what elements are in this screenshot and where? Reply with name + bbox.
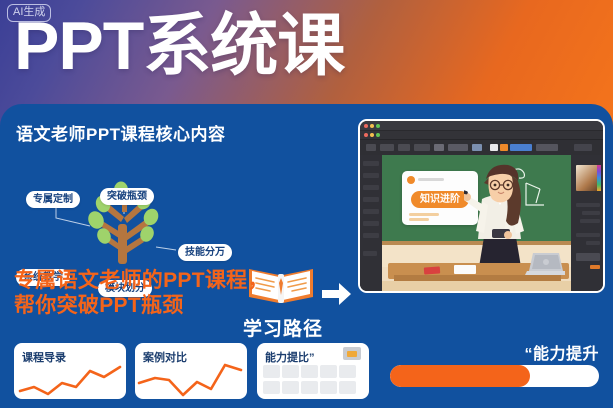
grid-cell: [320, 365, 337, 378]
toolbar-swatch-white[interactable]: [490, 144, 498, 151]
design-app-window: 知识进阶: [358, 119, 605, 293]
tree-label-0: 专属定制: [26, 191, 80, 208]
layer-row-1[interactable]: [576, 203, 600, 207]
slide-badge: 知识进阶: [411, 191, 469, 208]
window-titlebar: [360, 121, 603, 130]
toolbar-button-4[interactable]: [414, 144, 430, 151]
page-title: PPT系统课: [14, 6, 344, 86]
toolbar-button-6[interactable]: [448, 144, 468, 151]
tab-dot-3: [376, 133, 380, 137]
tree-label-2: 技能分万: [178, 244, 232, 261]
layer-row-3[interactable]: [580, 219, 600, 223]
tab-dot-1: [364, 133, 368, 137]
ai-generated-badge: AI生成: [7, 4, 51, 22]
paper-sheet: [454, 265, 476, 274]
tool-row-6[interactable]: [363, 221, 379, 226]
toolbar-button-9[interactable]: [574, 144, 592, 151]
tools-panel: [360, 155, 382, 291]
stat-card-1[interactable]: 案例对比: [135, 343, 247, 399]
progress-bar-fill: [390, 365, 530, 387]
layer-row-4[interactable]: [576, 233, 600, 237]
headline-line-2: 帮你突破PPT瓶颈: [14, 293, 269, 318]
toolbar-swatch-blue[interactable]: [510, 144, 532, 151]
tool-row-2[interactable]: [363, 173, 379, 178]
slide-text-line-1: [409, 213, 439, 216]
stat-card-2[interactable]: 能力提比”: [257, 343, 369, 399]
grid-cell: [301, 381, 318, 394]
headline-line-1: 专属语文老师的PPT课程，: [14, 268, 269, 293]
layer-row-5[interactable]: [586, 241, 600, 245]
properties-panel: [571, 155, 603, 291]
knowledge-tree-diagram: 专属定制 突破瓶颈 技能分万 系统教学 模块划分: [8, 144, 238, 264]
tree-label-1: 突破瓶颈: [100, 188, 154, 205]
line-chart-0: [14, 357, 126, 399]
tool-row-4[interactable]: [363, 197, 379, 202]
grid-cell: [339, 381, 356, 394]
canvas-illustration: 知识进阶: [382, 155, 571, 291]
window-body: 知识进阶: [360, 155, 603, 291]
image-placeholder-icon: [343, 347, 361, 360]
grid-cell: [282, 365, 299, 378]
headline: 专属语文老师的PPT课程， 帮你突破PPT瓶颈: [14, 268, 269, 318]
toolbar-button-7[interactable]: [472, 144, 482, 151]
window-tabbar: [360, 130, 603, 139]
window-maximize-dot[interactable]: [376, 124, 380, 128]
toolbar-button-8[interactable]: [536, 144, 558, 151]
window-close-dot[interactable]: [364, 124, 368, 128]
toolbar-button-2[interactable]: [380, 144, 394, 151]
grid-cell: [301, 365, 318, 378]
grid-cell: [263, 365, 280, 378]
color-hue-strip[interactable]: [597, 165, 601, 191]
grid-cell: [320, 381, 337, 394]
toolbar-button-1[interactable]: [366, 144, 376, 151]
grid-cell: [263, 381, 280, 394]
slide-text-line-2: [409, 218, 429, 221]
laptop-icon: [525, 251, 565, 277]
progress-bar-track[interactable]: [390, 365, 599, 387]
section-title: 语文老师PPT课程核心内容: [16, 120, 226, 145]
toolbar-button-3[interactable]: [398, 144, 410, 151]
toolbar-button-5[interactable]: [434, 144, 444, 151]
grid-placeholder: [263, 365, 363, 397]
tool-row-3[interactable]: [363, 185, 379, 190]
tab-dot-2: [370, 133, 374, 137]
floor: [382, 281, 571, 291]
stat-card-0[interactable]: 课程导录: [14, 343, 126, 399]
poster-root: PPT系统课 AI生成 语文老师PPT课程核心内容: [0, 0, 613, 408]
line-chart-1: [135, 357, 247, 399]
tool-row-8[interactable]: [363, 251, 377, 256]
grid-cell: [282, 381, 299, 394]
slide-logo-text: [418, 178, 444, 181]
layer-active-indicator[interactable]: [590, 265, 600, 269]
learning-path-label: 学习路径: [243, 314, 319, 341]
window-toolbar: [360, 139, 603, 155]
tool-row-5[interactable]: [363, 209, 379, 214]
tool-row-7[interactable]: [363, 233, 379, 238]
arrow-right-icon: [322, 282, 352, 306]
progress-label: “能力提升: [524, 340, 599, 364]
slide-logo-icon: [407, 176, 415, 184]
layer-thumbnail[interactable]: [576, 253, 600, 261]
red-book: [424, 266, 440, 274]
stat-card-title-2: 能力提比”: [265, 349, 315, 365]
layer-row-2[interactable]: [582, 211, 600, 215]
toolbar-swatch-orange[interactable]: [500, 144, 508, 151]
grid-cell: [339, 365, 356, 378]
tool-row-1[interactable]: [363, 161, 379, 166]
window-minimize-dot[interactable]: [370, 124, 374, 128]
